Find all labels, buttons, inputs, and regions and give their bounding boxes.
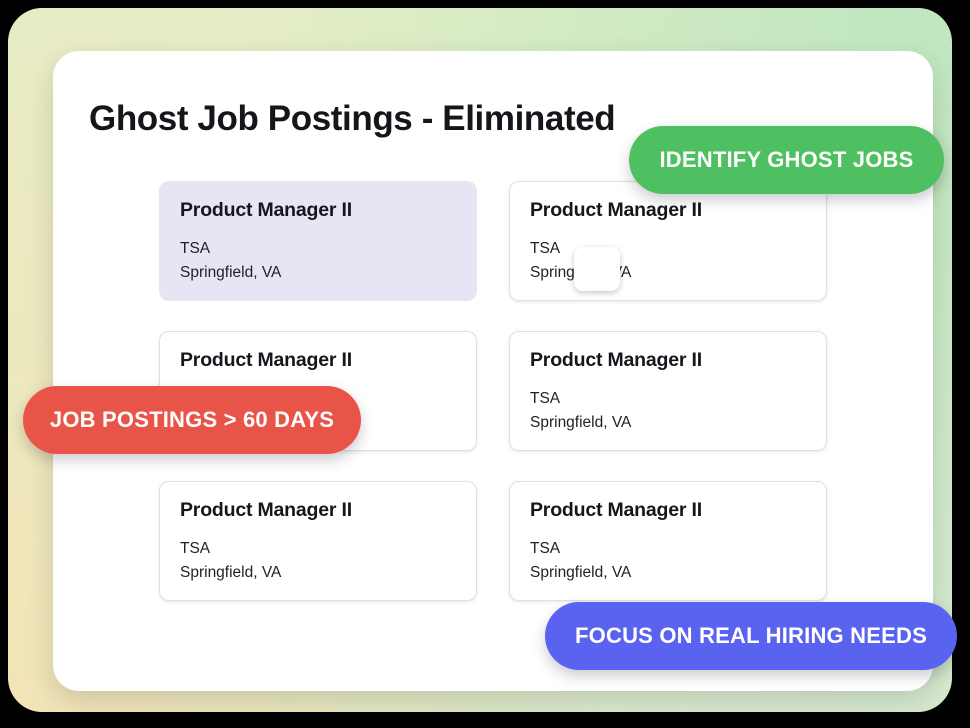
job-title: Product Manager II bbox=[530, 500, 806, 521]
job-title: Product Manager II bbox=[180, 200, 456, 221]
job-card[interactable]: Product Manager II TSA Springfield, VA bbox=[159, 181, 477, 301]
job-location: Springfield, VA bbox=[530, 261, 806, 285]
job-card[interactable]: Product Manager II TSA Springfield, VA bbox=[159, 481, 477, 601]
job-title: Product Manager II bbox=[180, 500, 456, 521]
job-location: Springfield, VA bbox=[180, 261, 456, 285]
job-card[interactable]: Product Manager II TSA Springfield, VA bbox=[509, 481, 827, 601]
job-row-3: Product Manager II TSA Springfield, VA P… bbox=[159, 481, 879, 601]
page-title: Ghost Job Postings - Eliminated bbox=[89, 99, 615, 139]
job-title: Product Manager II bbox=[530, 200, 806, 221]
job-organization: TSA bbox=[530, 237, 806, 261]
gradient-background-frame: Ghost Job Postings - Eliminated Product … bbox=[8, 8, 952, 712]
job-organization: TSA bbox=[180, 237, 456, 261]
job-location: Springfield, VA bbox=[530, 411, 806, 435]
callout-focus-real-hiring-needs[interactable]: FOCUS ON REAL HIRING NEEDS bbox=[545, 602, 957, 670]
job-location: Springfield, VA bbox=[530, 561, 806, 585]
job-card[interactable]: Product Manager II TSA Springfield, VA bbox=[509, 181, 827, 301]
job-organization: TSA bbox=[530, 537, 806, 561]
callout-identify-ghost-jobs[interactable]: IDENTIFY GHOST JOBS bbox=[629, 126, 944, 194]
job-location: Springfield, VA bbox=[180, 561, 456, 585]
job-title: Product Manager II bbox=[530, 350, 806, 371]
job-card[interactable]: Product Manager II TSA Springfield, VA bbox=[509, 331, 827, 451]
job-title: Product Manager II bbox=[180, 350, 456, 371]
screenshot-stage: Ghost Job Postings - Eliminated Product … bbox=[0, 0, 970, 728]
callout-job-postings-60-days[interactable]: JOB POSTINGS > 60 DAYS bbox=[23, 386, 361, 454]
cursor-artifact bbox=[574, 247, 620, 291]
job-row-1: Product Manager II TSA Springfield, VA P… bbox=[159, 181, 879, 301]
job-organization: TSA bbox=[180, 537, 456, 561]
job-organization: TSA bbox=[530, 387, 806, 411]
